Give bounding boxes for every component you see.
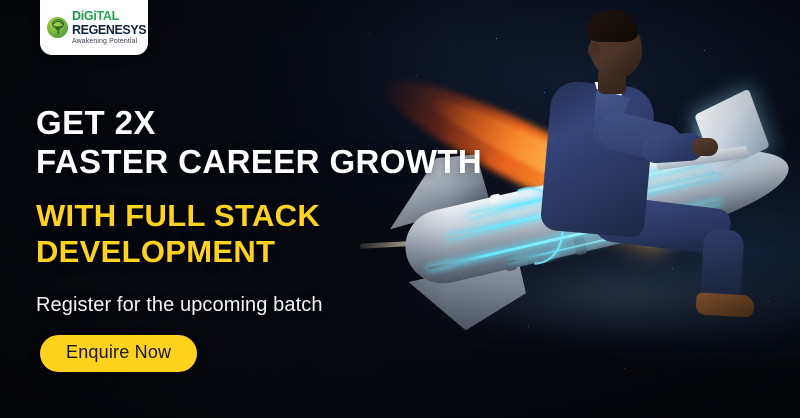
subheadline-line-1: WITH FULL STACK — [36, 198, 506, 234]
logo-tagline: Awakening Potential — [72, 38, 146, 45]
subheadline-line-2: DEVELOPMENT — [36, 234, 506, 270]
promo-banner: DiGiTAL REGENESYS Awakening Potential GE… — [0, 0, 800, 418]
body-text: Register for the upcoming batch — [36, 294, 506, 317]
enquire-now-button[interactable]: Enquire Now — [40, 335, 197, 372]
logo-line-regenesys: REGENESYS — [72, 24, 146, 37]
headline: GET 2X FASTER CAREER GROWTH — [36, 104, 506, 182]
logo-line-digital: DiGiTAL — [72, 10, 146, 23]
subheadline: WITH FULL STACK DEVELOPMENT — [36, 198, 506, 270]
headline-line-1: GET 2X — [36, 104, 506, 143]
headline-line-2: FASTER CAREER GROWTH — [36, 143, 506, 182]
tree-emblem-icon — [47, 17, 68, 38]
brand-logo[interactable]: DiGiTAL REGENESYS Awakening Potential — [40, 0, 148, 55]
copy-block: GET 2X FASTER CAREER GROWTH WITH FULL ST… — [36, 104, 506, 372]
logo-wordmark: DiGiTAL REGENESYS Awakening Potential — [72, 10, 146, 45]
